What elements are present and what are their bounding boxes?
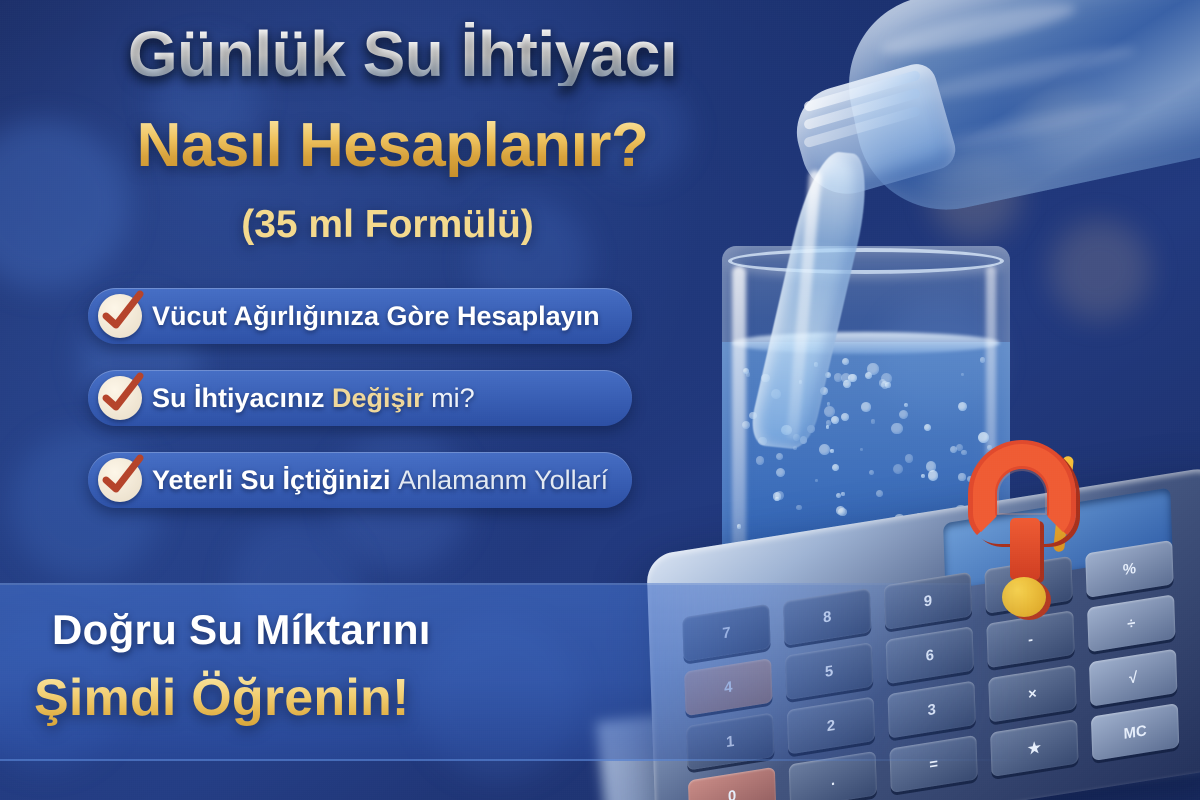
headline-subtitle: (35 ml Formülü) [0,205,775,244]
bubble [743,368,749,374]
benefit-item-1-label: Vücut Ağırlığınıza Gòre Hesaplayın [152,301,600,332]
bubble [861,402,871,412]
bubble [881,381,889,389]
bubble [867,363,879,375]
bubble [773,492,781,500]
check-icon [96,292,144,340]
bottle-highlight [940,97,1130,154]
benefit-item-1[interactable]: Vücut Ağırlığınıza Gòre Hesaplayın [88,288,632,344]
cta-line-1: Doğru Su Míktarını [52,606,431,654]
bubble [928,470,939,481]
bubble [871,419,876,424]
bubble [842,358,849,365]
calculator-key: 0 [688,767,776,800]
headline-line-2: Nasıl Hesaplanır? [0,115,785,177]
benefit-list: Vücut Ağırlığınıza Gòre Hesaplayın Su İh… [88,288,632,534]
headline-line-1: Günlük Su İhtiyacı [0,22,805,86]
bubble [737,524,742,529]
poster-canvas: 789+%456-÷123×√0.=★MC Günlük Su İhtiyacı… [0,0,1200,800]
check-icon-glyph [96,290,144,338]
benefit-item-2-accent: Değişir [332,383,424,413]
bubble [841,492,844,495]
check-icon [96,456,144,504]
benefit-item-2[interactable]: Su İhtiyacınız Değişir mi? [88,370,632,426]
benefit-item-2-label: Su İhtiyacınız Değişir mi? [152,383,475,414]
bubble [921,474,925,478]
benefit-item-2-tail: mi? [424,383,475,413]
bubble [756,456,765,465]
bubble [830,449,833,452]
bubble [824,406,835,417]
check-icon-glyph [96,372,144,420]
bubble [832,464,839,471]
benefit-item-3-label: Yeterli Su İçtiğinizi Anlamanm Yollarí [152,465,608,496]
check-icon-glyph [96,454,144,502]
cta-line-2: Şimdi Öğrenin! [34,668,409,728]
water-bottle [770,0,1200,260]
bubble [796,505,801,510]
bubble [905,454,913,462]
bottle-highlight [878,0,1079,62]
calculator-key: √ [1089,649,1177,707]
glass-highlight [732,266,746,566]
bubble [742,421,750,429]
bubble [826,425,829,428]
benefit-item-3[interactable]: Yeterli Su İçtiğinizi Anlamanm Yollarí [88,452,632,508]
check-icon [96,374,144,422]
benefit-item-2-text: Su İhtiyacınız [152,383,332,413]
bubble [860,448,863,451]
calculator-key: MC [1091,703,1179,761]
bottle-highlight [909,40,1138,107]
benefit-item-3-text: Yeterli Su İçtiğinizi [152,465,398,495]
bubble [958,402,967,411]
bubble [836,506,845,515]
question-mark-stem [1010,518,1040,580]
benefit-item-3-dim: Anlamanm Yollarí [398,465,608,495]
calculator-key: ÷ [1087,594,1175,652]
bubble [776,453,783,460]
bubble [980,357,985,362]
